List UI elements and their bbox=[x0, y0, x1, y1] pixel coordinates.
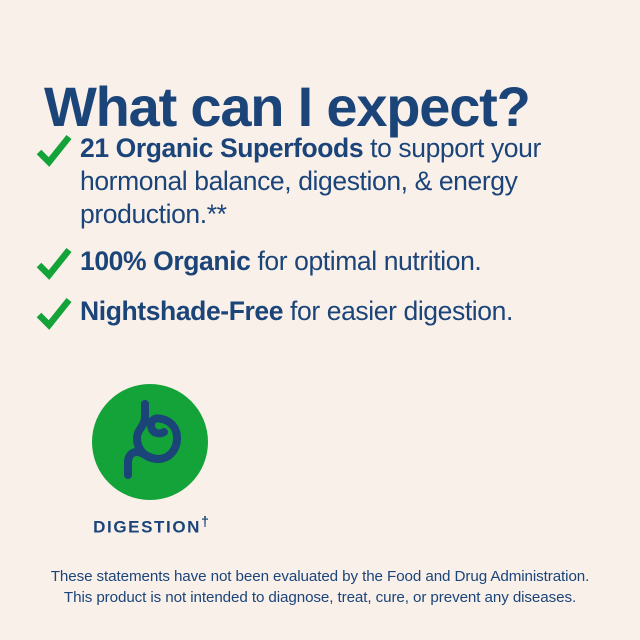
benefit-item: 100% Organic for optimal nutrition. bbox=[36, 245, 612, 281]
stomach-icon bbox=[107, 397, 193, 488]
disclaimer: These statements have not been evaluated… bbox=[20, 566, 620, 608]
benefit-lead: 21 Organic Superfoods bbox=[80, 133, 363, 163]
digestion-icon-circle bbox=[92, 384, 208, 500]
benefit-text: 100% Organic for optimal nutrition. bbox=[80, 245, 612, 278]
benefit-lead: Nightshade-Free bbox=[80, 296, 283, 326]
digestion-badge: DIGESTION† bbox=[92, 384, 210, 538]
benefit-lead: 100% Organic bbox=[80, 246, 250, 276]
digestion-label-text: DIGESTION bbox=[93, 518, 201, 537]
disclaimer-line-1: These statements have not been evaluated… bbox=[20, 566, 620, 587]
benefit-rest: for easier digestion. bbox=[283, 296, 513, 326]
dagger-symbol: † bbox=[201, 513, 209, 529]
check-icon bbox=[36, 297, 72, 331]
digestion-label: DIGESTION† bbox=[92, 513, 210, 538]
check-icon bbox=[36, 134, 72, 168]
disclaimer-line-2: This product is not intended to diagnose… bbox=[20, 587, 620, 608]
benefit-rest: for optimal nutrition. bbox=[250, 246, 481, 276]
benefit-item: Nightshade-Free for easier digestion. bbox=[36, 295, 612, 331]
benefits-list: 21 Organic Superfoods to support your ho… bbox=[36, 132, 612, 345]
benefit-text: 21 Organic Superfoods to support your ho… bbox=[80, 132, 612, 231]
benefit-text: Nightshade-Free for easier digestion. bbox=[80, 295, 612, 328]
page-title: What can I expect? bbox=[44, 76, 604, 138]
check-icon bbox=[36, 247, 72, 281]
promo-card: What can I expect? 21 Organic Superfoods… bbox=[0, 0, 640, 640]
benefit-item: 21 Organic Superfoods to support your ho… bbox=[36, 132, 612, 231]
